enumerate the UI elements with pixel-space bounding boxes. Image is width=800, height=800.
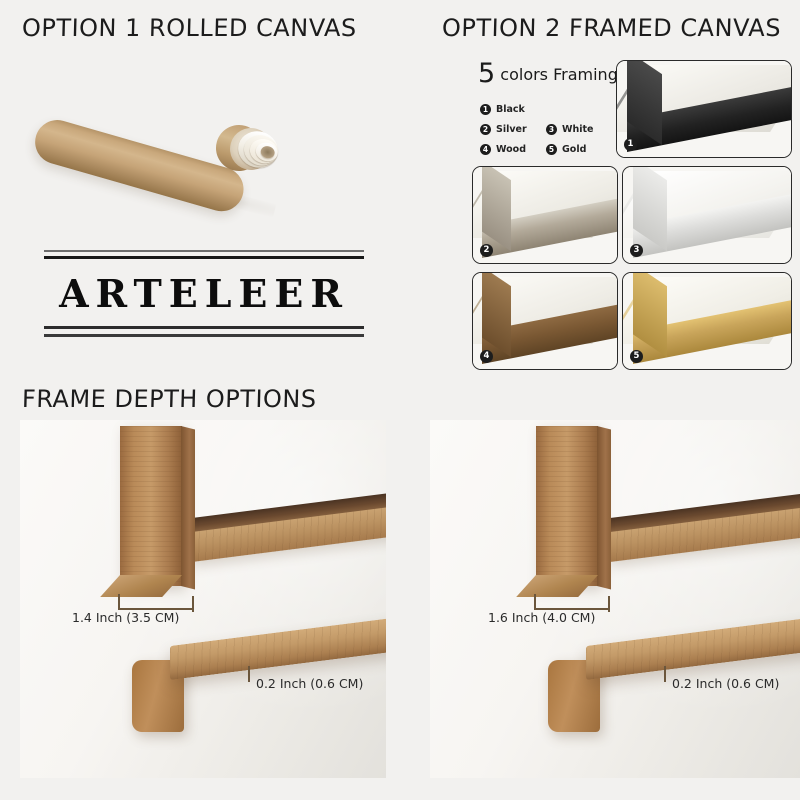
brand-name: ARTELEER (44, 267, 364, 321)
rail-depth-label: 0.2 Inch (0.6 CM) (256, 676, 363, 691)
logo-rule-top-thin (44, 250, 364, 252)
framing-title-rest: colors Framing (500, 65, 618, 84)
frame-swatch-number-3: 3 (630, 244, 643, 257)
post-bottom-face (100, 575, 182, 597)
legend-label-gold: Gold (562, 144, 586, 155)
legend-label-silver: Silver (496, 124, 527, 135)
dimension-leader (192, 596, 194, 612)
legend-row: 1 Black (480, 104, 620, 115)
framing-colors-section: 5 colors Framing 1 Black 2 Silver 3 Whit… (470, 58, 800, 358)
framing-title: 5 colors Framing (478, 58, 618, 89)
post-side-face (181, 426, 195, 589)
frame-swatch-number-5: 5 (630, 350, 643, 363)
frame-swatch-gold[interactable]: 5 (622, 272, 792, 370)
frame-depth-label: 1.6 Inch (4.0 CM) (488, 610, 595, 625)
frame-depth-label: 1.4 Inch (3.5 CM) (72, 610, 179, 625)
lower-horizontal-rail (586, 614, 800, 680)
frame-swatch-black[interactable]: 1 (616, 60, 792, 158)
framing-count: 5 (478, 58, 495, 89)
legend-badge-1: 1 (480, 104, 491, 115)
heading-option-2-framed-canvas: OPTION 2 FRAMED CANVAS (442, 14, 782, 42)
vertical-frame-post (120, 426, 182, 586)
legend-badge-2: 2 (480, 124, 491, 135)
legend-item-white: 3 White (546, 124, 612, 135)
legend-badge-4: 4 (480, 144, 491, 155)
vertical-frame-post (536, 426, 598, 586)
legend-label-white: White (562, 124, 593, 135)
frame-swatch-number-4: 4 (480, 350, 493, 363)
frame-swatch-number-2: 2 (480, 244, 493, 257)
legend-item-wood: 4 Wood (480, 144, 546, 155)
frame-depth-photo-1-6-inch: 1.6 Inch (4.0 CM) 0.2 Inch (0.6 CM) (430, 420, 800, 778)
legend-label-black: Black (496, 104, 525, 115)
heading-option-1-rolled-canvas: OPTION 1 ROLLED CANVAS (22, 14, 357, 42)
dimension-leader (664, 666, 666, 682)
post-side-face (597, 426, 611, 589)
legend-label-wood: Wood (496, 144, 526, 155)
frame-swatch-silver[interactable]: 2 (472, 166, 618, 264)
legend-item-gold: 5 Gold (546, 144, 612, 155)
tube-body (30, 115, 249, 217)
logo-rule-top-thick (44, 256, 364, 259)
legend-badge-3: 3 (546, 124, 557, 135)
brand-logo-block: ARTELEER (44, 250, 364, 350)
logo-rule-bottom-b (44, 334, 364, 337)
framing-legend: 1 Black 2 Silver 3 White 4 Wood 5 Gold (480, 104, 620, 164)
lower-horizontal-rail (170, 614, 386, 680)
rail-depth-label: 0.2 Inch (0.6 CM) (672, 676, 779, 691)
legend-row: 4 Wood 5 Gold (480, 144, 620, 155)
frame-swatch-wood[interactable]: 4 (472, 272, 618, 370)
frame-swatch-white[interactable]: 3 (622, 166, 792, 264)
legend-row: 2 Silver 3 White (480, 124, 620, 135)
frame-depth-photo-1-4-inch: 1.4 Inch (3.5 CM) 0.2 Inch (0.6 CM) (20, 420, 386, 778)
post-bottom-face (516, 575, 598, 597)
heading-frame-depth-options: FRAME DEPTH OPTIONS (22, 385, 317, 413)
legend-item-black: 1 Black (480, 104, 546, 115)
frame-swatch-number-1: 1 (624, 138, 637, 151)
legend-badge-5: 5 (546, 144, 557, 155)
dimension-leader (248, 666, 250, 682)
dimension-leader (608, 596, 610, 612)
logo-rule-bottom-a (44, 326, 364, 329)
rolled-canvas-illustration (30, 68, 300, 203)
legend-item-silver: 2 Silver (480, 124, 546, 135)
